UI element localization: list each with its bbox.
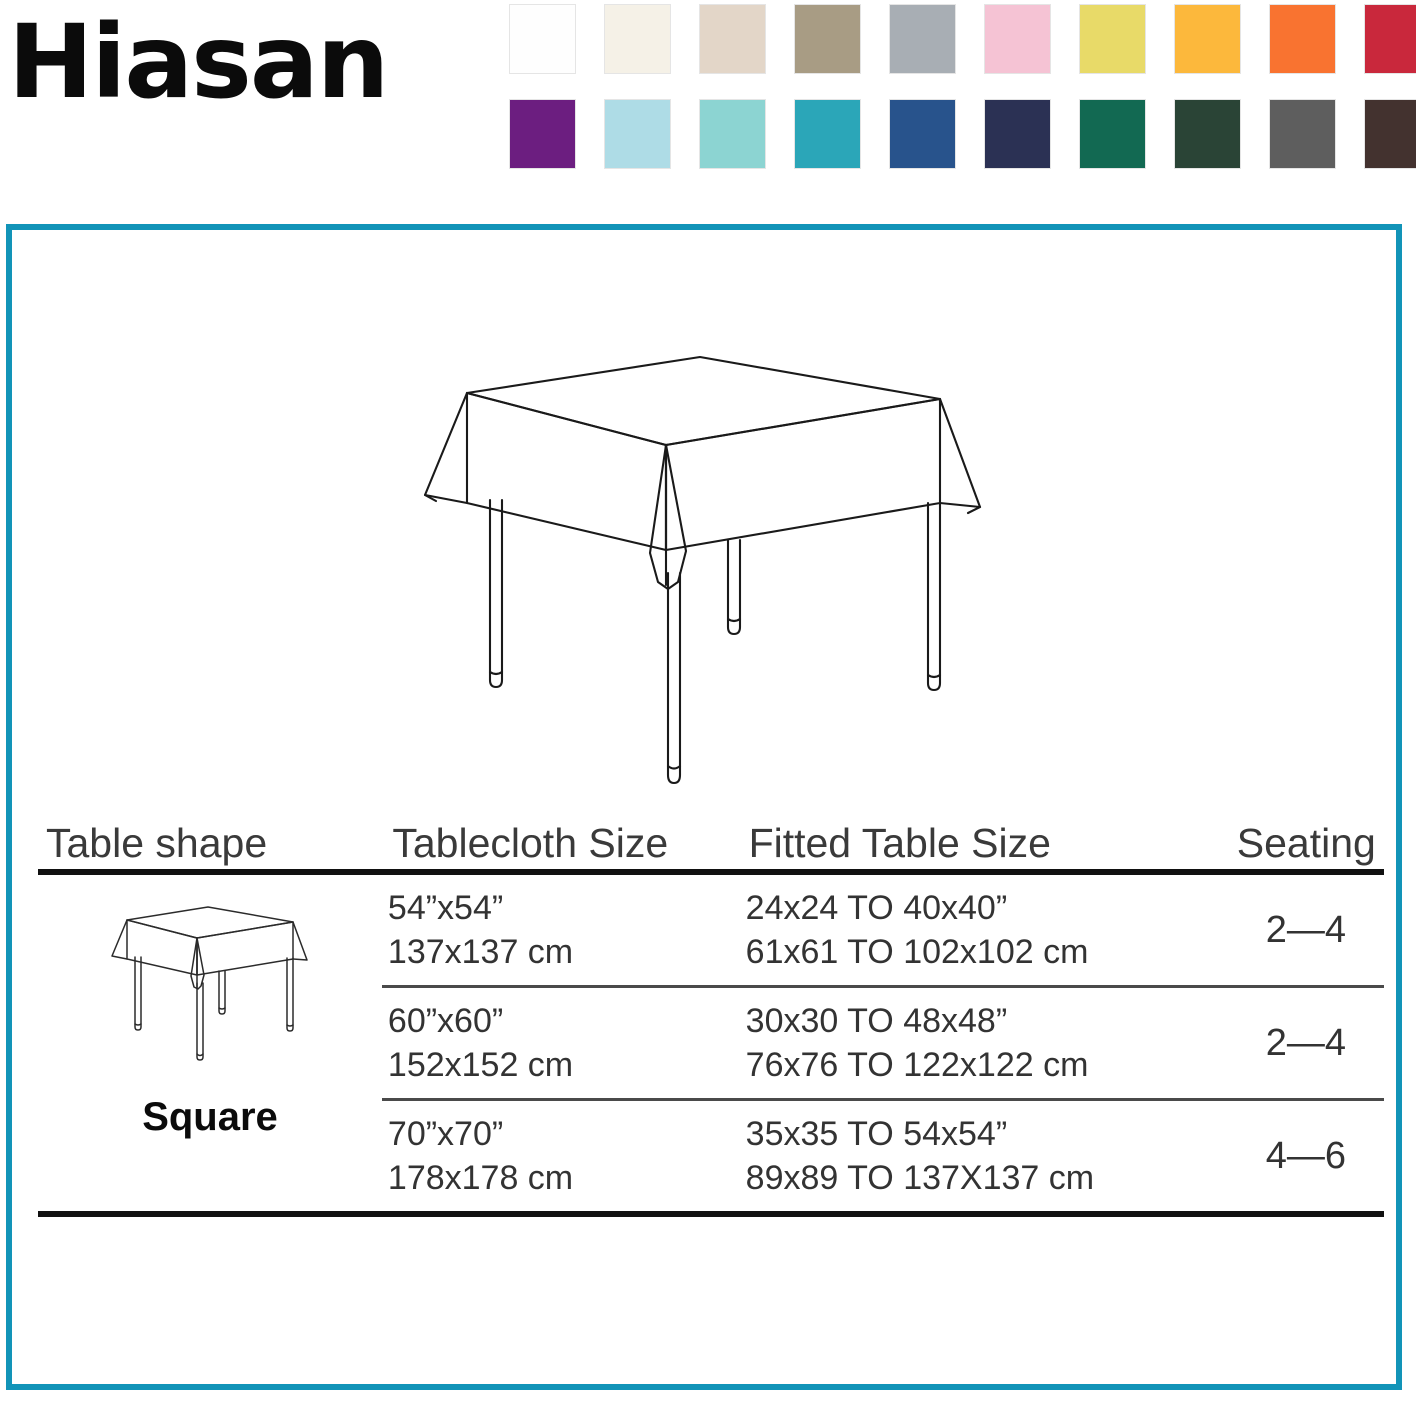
color-swatch-purple[interactable] <box>510 100 575 168</box>
color-swatch-hunter-green[interactable] <box>1175 100 1240 168</box>
fitted-size-cm: 89x89 TO 137X137 cm <box>746 1159 1228 1197</box>
color-swatch-midnight-navy[interactable] <box>985 100 1050 168</box>
swatch-row-1 <box>510 5 1416 73</box>
color-swatch-baby-pink[interactable] <box>985 5 1050 73</box>
cloth-size-cm: 178x178 cm <box>388 1159 740 1197</box>
column-header-fitted-table-size: Fitted Table Size <box>743 820 1229 867</box>
row-seating: 2—4 <box>1228 875 1384 985</box>
cloth-size-cm: 137x137 cm <box>388 933 740 971</box>
color-swatch-red[interactable] <box>1365 5 1416 73</box>
color-swatch-ivory[interactable] <box>605 5 670 73</box>
color-swatch-orange[interactable] <box>1270 5 1335 73</box>
cloth-size-inches: 54”x54” <box>388 889 740 927</box>
row-fitted-table-size: 35x35 TO 54x54” 89x89 TO 137X137 cm <box>740 1101 1228 1211</box>
cloth-size-cm: 152x152 cm <box>388 1046 740 1084</box>
info-panel: Table shape Tablecloth Size Fitted Table… <box>6 224 1402 1390</box>
color-swatch-light-blue[interactable] <box>605 100 670 168</box>
fitted-size-inches: 30x30 TO 48x48” <box>746 1002 1228 1040</box>
color-swatch-palette <box>510 5 1410 175</box>
product-infographic: Hiasan <box>0 0 1416 1402</box>
color-swatch-silver-gray[interactable] <box>890 5 955 73</box>
seating-value: 2—4 <box>1266 909 1346 952</box>
row-fitted-table-size: 24x24 TO 40x40” 61x61 TO 102x102 cm <box>740 875 1228 985</box>
seating-value: 2—4 <box>1266 1022 1346 1065</box>
table-bottom-rule <box>38 1211 1384 1217</box>
color-swatch-white[interactable] <box>510 5 575 73</box>
table-body: Square 54”x54” 137x137 cm 24x24 TO 40x40… <box>38 875 1384 1211</box>
color-swatch-navy-blue[interactable] <box>890 100 955 168</box>
fitted-size-inches: 24x24 TO 40x40” <box>746 889 1228 927</box>
swatch-row-2 <box>510 100 1416 168</box>
fitted-size-cm: 61x61 TO 102x102 cm <box>746 933 1228 971</box>
size-table: Table shape Tablecloth Size Fitted Table… <box>38 805 1384 1217</box>
table-header-row: Table shape Tablecloth Size Fitted Table… <box>38 805 1384 869</box>
cloth-size-inches: 60”x60” <box>388 1002 740 1040</box>
square-table-thumbnail-icon <box>107 899 313 1085</box>
color-swatch-taupe[interactable] <box>795 5 860 73</box>
seating-value: 4—6 <box>1266 1135 1346 1178</box>
square-tablecloth-illustration <box>412 335 992 800</box>
fitted-size-inches: 35x35 TO 54x54” <box>746 1115 1228 1153</box>
color-swatch-gold[interactable] <box>1175 5 1240 73</box>
row-fitted-table-size: 30x30 TO 48x48” 76x76 TO 122x122 cm <box>740 988 1228 1098</box>
column-header-table-shape: Table shape <box>38 820 384 867</box>
color-swatch-emerald[interactable] <box>1080 100 1145 168</box>
table-shape-label: Square <box>142 1095 278 1140</box>
fitted-size-cm: 76x76 TO 122x122 cm <box>746 1046 1228 1084</box>
row-seating: 4—6 <box>1228 1101 1384 1211</box>
row-seating: 2—4 <box>1228 988 1384 1098</box>
table-shape-cell: Square <box>38 875 382 1211</box>
row-tablecloth-size: 70”x70” 178x178 cm <box>378 1101 740 1211</box>
row-tablecloth-size: 60”x60” 152x152 cm <box>378 988 740 1098</box>
cloth-size-inches: 70”x70” <box>388 1115 740 1153</box>
color-swatch-dark-brown[interactable] <box>1365 100 1416 168</box>
color-swatch-aqua[interactable] <box>700 100 765 168</box>
color-swatch-beige[interactable] <box>700 5 765 73</box>
row-tablecloth-size: 54”x54” 137x137 cm <box>378 875 740 985</box>
brand-logo: Hiasan <box>8 8 468 118</box>
column-header-tablecloth-size: Tablecloth Size <box>384 820 742 867</box>
column-header-seating: Seating <box>1229 820 1384 867</box>
color-swatch-yellow[interactable] <box>1080 5 1145 73</box>
color-swatch-teal[interactable] <box>795 100 860 168</box>
color-swatch-charcoal-gray[interactable] <box>1270 100 1335 168</box>
